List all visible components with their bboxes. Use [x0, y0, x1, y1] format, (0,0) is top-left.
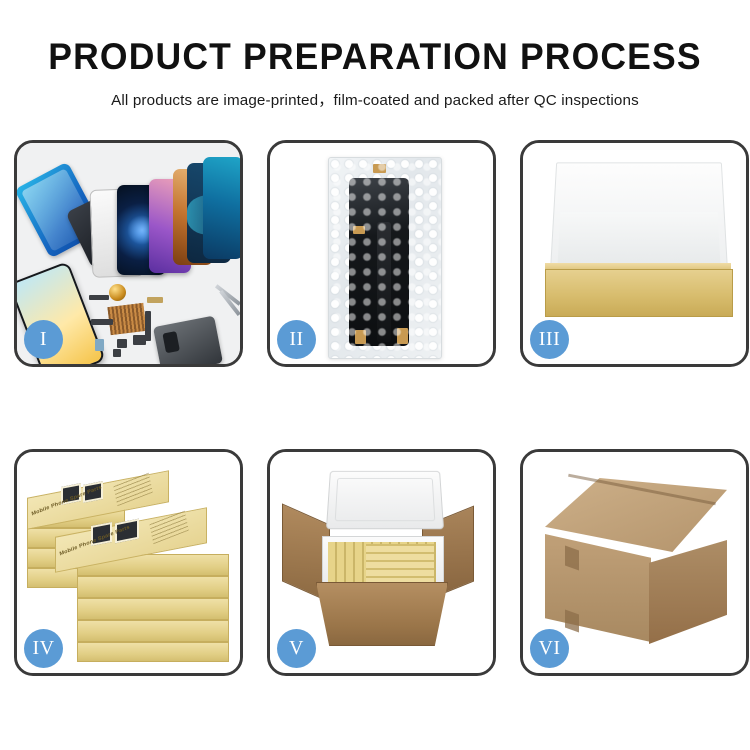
stack-box-r3	[77, 598, 229, 620]
small-part-2	[91, 319, 113, 325]
carton-tape-lower	[565, 609, 579, 632]
circuit-board	[107, 303, 146, 335]
small-part-6	[147, 297, 163, 303]
gold-component	[109, 284, 126, 301]
stack-box-r2	[77, 576, 229, 598]
process-step-grid: I II III	[14, 140, 736, 676]
kraft-box-base	[545, 269, 733, 317]
page-title: PRODUCT PREPARATION PROCESS	[15, 38, 735, 77]
carton-side-face	[649, 540, 727, 644]
foam-lid	[326, 471, 444, 529]
bubble-wrap-bag	[328, 157, 442, 359]
process-step-panel-4[interactable]: Mobile Phone Spare Parts Mobile Phone Sp…	[14, 449, 243, 676]
phone-cyan	[203, 157, 240, 259]
step-badge-5: V	[277, 629, 316, 668]
carton-body	[316, 582, 448, 646]
step-badge-6: VI	[530, 629, 569, 668]
step-badge-2: II	[277, 320, 316, 359]
small-part-4	[117, 339, 127, 348]
process-step-panel-6[interactable]: VI	[520, 449, 749, 676]
carton-front-face	[545, 534, 651, 642]
process-step-panel-5[interactable]: V	[267, 449, 496, 676]
step-badge-4: IV	[24, 629, 63, 668]
small-part-7	[113, 349, 121, 357]
box-lid-white	[550, 162, 729, 278]
small-part-1	[89, 295, 109, 300]
stack-box-r4	[77, 620, 229, 642]
page-header: PRODUCT PREPARATION PROCESS All products…	[0, 0, 750, 110]
stack-box-r5	[77, 642, 229, 662]
yellow-boxes-row-2	[366, 544, 434, 584]
bubble-highlight-overlay	[329, 158, 441, 358]
flex-cable	[145, 311, 151, 341]
phone-back-cover	[153, 316, 223, 364]
process-step-panel-3[interactable]: III	[520, 140, 749, 367]
page-subtitle: All products are image-printed，film-coat…	[0, 88, 750, 110]
step-badge-1: I	[24, 320, 63, 359]
process-step-panel-2[interactable]: II	[267, 140, 496, 367]
small-part-3	[95, 339, 104, 351]
step-badge-3: III	[530, 320, 569, 359]
process-step-panel-1[interactable]: I	[14, 140, 243, 367]
